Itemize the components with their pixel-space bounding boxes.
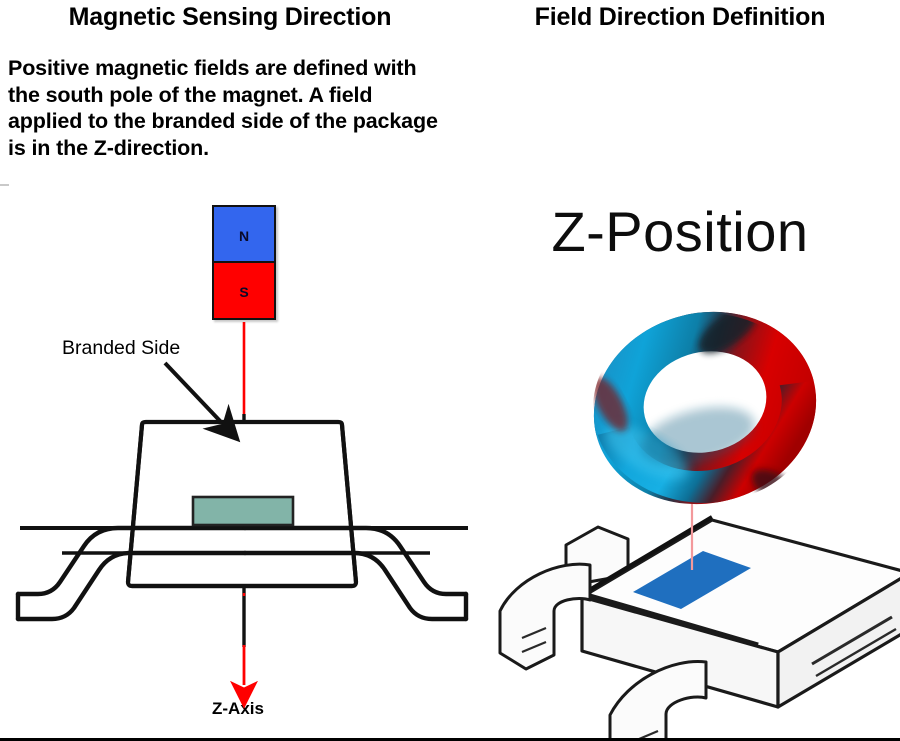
magnet-wheel <box>573 289 836 528</box>
sensor-die <box>193 497 293 525</box>
panel-magnetic-sensing-direction: Magnetic Sensing Direction Positive magn… <box>0 0 460 738</box>
panel-field-direction-definition: Field Direction Definition The magnet wh… <box>460 0 900 738</box>
right-3d-scene <box>460 0 900 741</box>
lead-3d-front-left <box>500 564 590 669</box>
lead-3d-front-right <box>610 662 706 741</box>
left-package-drawing <box>0 0 460 741</box>
branded-side-arrow <box>165 363 221 422</box>
package-3d <box>500 517 900 741</box>
figure-canvas: Magnetic Sensing Direction Positive magn… <box>0 0 900 741</box>
